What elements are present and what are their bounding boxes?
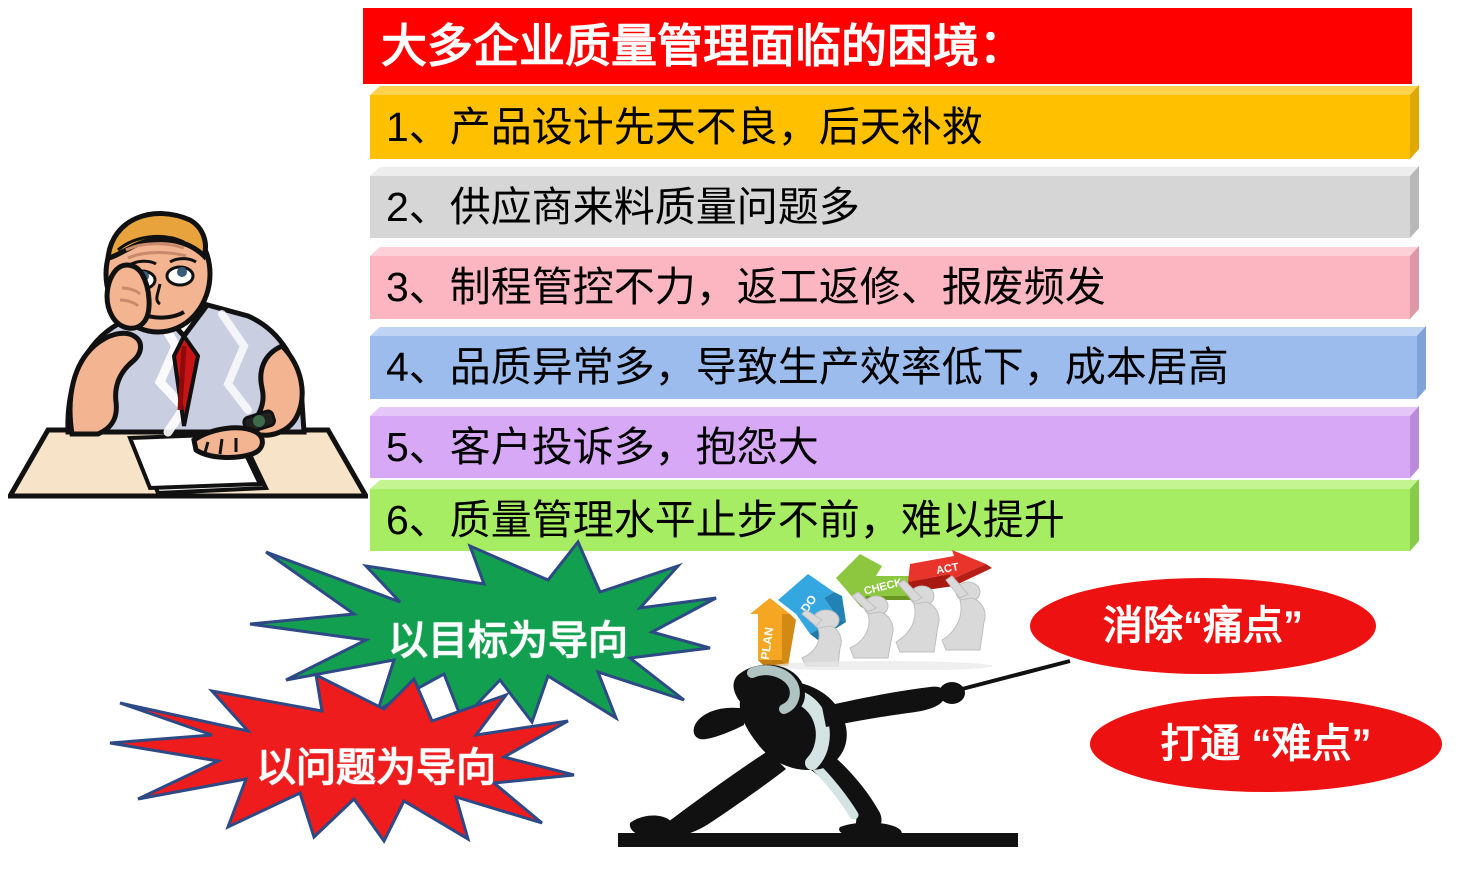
bar-bevel-right (1410, 85, 1419, 159)
slide-canvas: 大多企业质量管理面临的困境： 1、产品设计先天不良，后天补救 2、供应商来料质量… (0, 0, 1470, 871)
problem-bar-2-label: 2、供应商来料质量问题多 (386, 187, 860, 228)
bar-bevel-right (1410, 166, 1419, 238)
bar-bevel-right (1417, 326, 1426, 399)
problem-bar-1-label: 1、产品设计先天不良，后天补救 (386, 107, 983, 148)
bar-bevel-top (370, 167, 1420, 176)
callout-eliminate-pain-points-label: 消除“痛点” (1103, 606, 1303, 646)
bar-bevel-top (370, 407, 1420, 416)
burst-problem-oriented: 以问题为导向 (108, 673, 578, 843)
problem-bar-5: 5、客户投诉多，抱怨大 (370, 416, 1410, 478)
burst-problem-oriented-label: 以问题为导向 (256, 735, 496, 793)
problem-bar-3: 3、制程管控不力，返工返修、报废频发 (370, 256, 1410, 319)
problem-bar-4: 4、品质异常多，导致生产效率低下，成本居高 (370, 336, 1417, 399)
problem-bar-2: 2、供应商来料质量问题多 (370, 176, 1410, 238)
page-title: 大多企业质量管理面临的困境： (381, 23, 1025, 69)
bar-bevel-top (370, 480, 1420, 489)
problem-bar-6: 6、质量管理水平止步不前，难以提升 (370, 489, 1410, 551)
bar-bevel-top (370, 247, 1420, 256)
bar-bevel-right (1410, 246, 1419, 319)
fencer-lunging-illustration (600, 655, 1070, 871)
frustrated-office-worker-illustration (8, 196, 368, 506)
callout-break-through-difficulties: 打通 “难点” (1090, 696, 1442, 792)
burst-goal-oriented-label: 以目标为导向 (388, 608, 628, 666)
bar-bevel-top (370, 327, 1427, 336)
slide-title-bar: 大多企业质量管理面临的困境： (363, 8, 1412, 84)
callout-eliminate-pain-points: 消除“痛点” (1030, 578, 1376, 674)
bar-bevel-right (1410, 406, 1419, 478)
problem-bar-4-label: 4、品质异常多，导致生产效率低下，成本居高 (386, 347, 1229, 388)
callout-break-through-difficulties-label: 打通 “难点” (1160, 724, 1371, 764)
problem-bar-6-label: 6、质量管理水平止步不前，难以提升 (386, 500, 1065, 541)
pdca-teamwork-image: PLAN DO CHECK ACT (742, 548, 1004, 670)
bar-bevel-right (1410, 479, 1419, 551)
problem-bar-3-label: 3、制程管控不力，返工返修、报废频发 (386, 267, 1106, 308)
problem-bar-1: 1、产品设计先天不良，后天补救 (370, 95, 1410, 159)
problem-bar-5-label: 5、客户投诉多，抱怨大 (386, 427, 819, 468)
bar-bevel-top (370, 86, 1420, 95)
